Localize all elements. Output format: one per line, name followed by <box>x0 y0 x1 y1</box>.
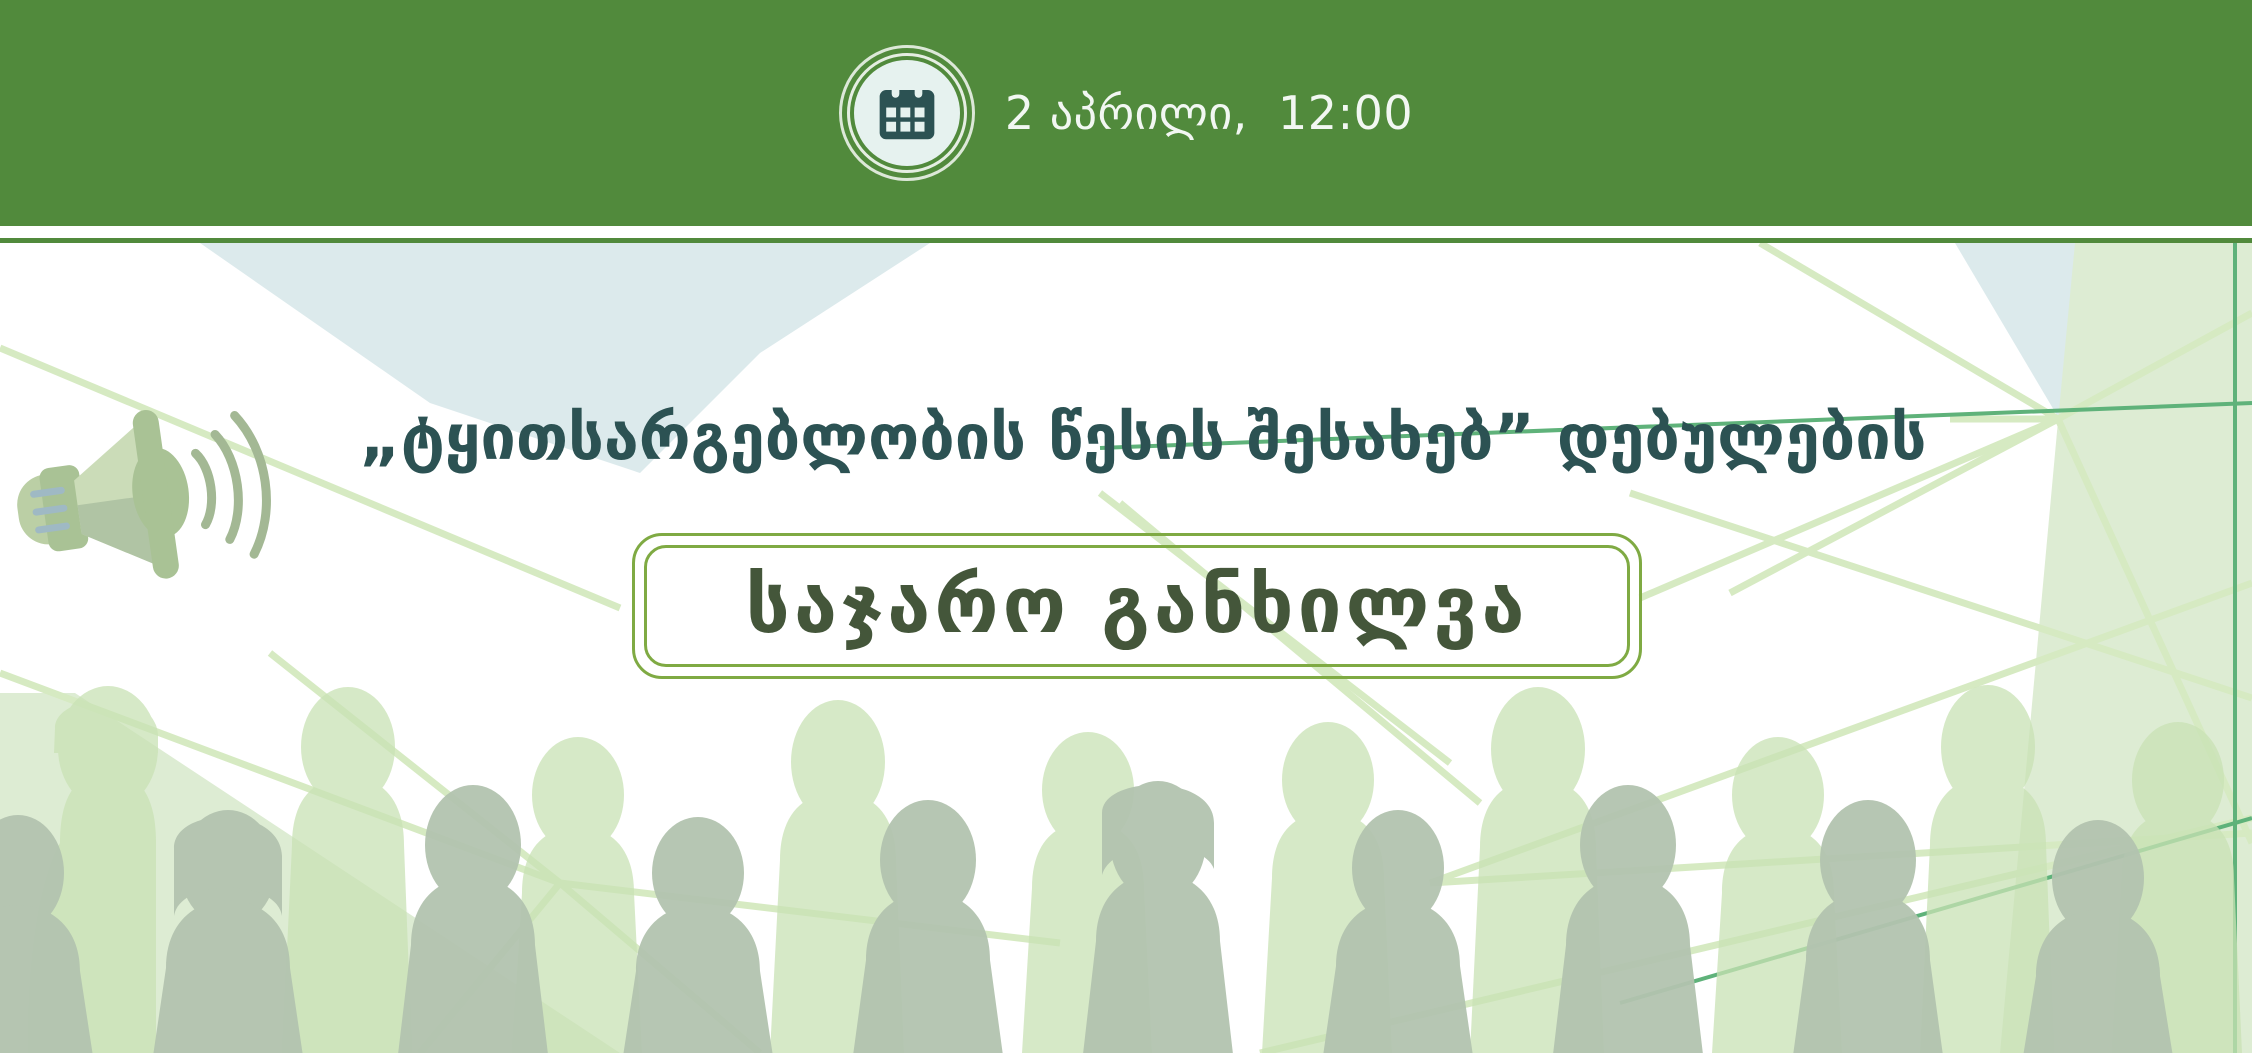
highlight-label: საჯარო განხილვა <box>745 567 1528 645</box>
banner-content: „ტყითსარგებლობის წესის შესახებ” დებულები… <box>0 243 2252 679</box>
page-title: „ტყითსარგებლობის წესის შესახებ” დებულები… <box>359 406 1926 469</box>
header-divider-line <box>0 238 2252 243</box>
crowd-silhouettes <box>0 633 2252 1053</box>
highlight-box: საჯარო განხილვა <box>632 533 1642 679</box>
public-discussion-banner: 2 აპრილი, 12:00 „ტყითსარგებლობის წესის შ… <box>0 0 2252 1053</box>
calendar-glyph <box>872 78 942 148</box>
calendar-icon <box>839 45 975 181</box>
header-band: 2 აპრილი, 12:00 <box>0 0 2252 226</box>
event-datetime: 2 აპრილი, 12:00 <box>1005 90 1413 136</box>
